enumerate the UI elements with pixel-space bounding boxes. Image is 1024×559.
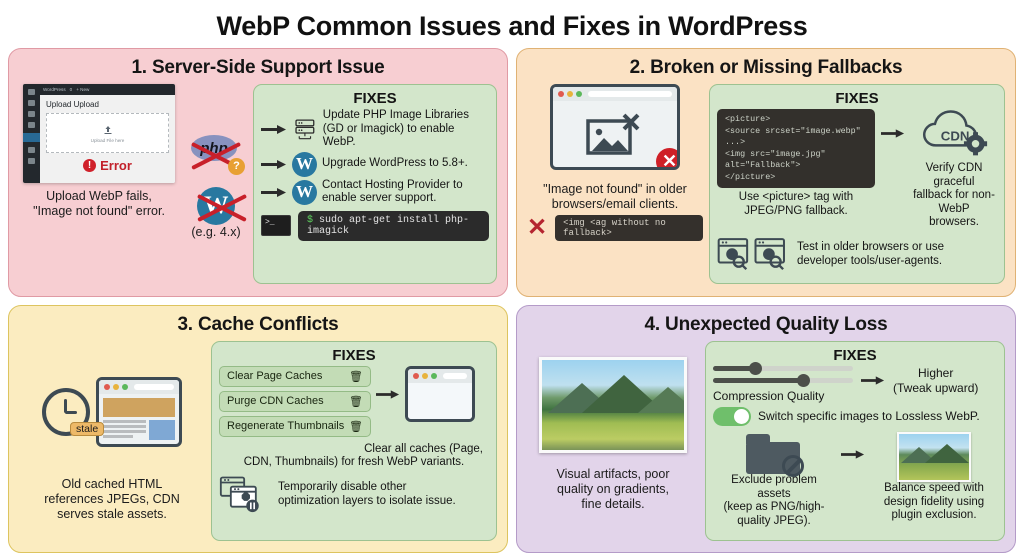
browser-titlebar — [99, 380, 179, 394]
wp-sidebar-icon — [28, 89, 35, 95]
regenerate-thumbnails-button[interactable]: Regenerate Thumbnails 🗑 — [219, 416, 371, 437]
panel-2-title: 2. Broken or Missing Fallbacks — [527, 55, 1005, 81]
panel-cache-conflicts: 3. Cache Conflicts stale — [8, 305, 508, 554]
wp-dropzone-label: Upload File here — [91, 138, 125, 143]
button-label: Clear Page Caches — [227, 370, 322, 382]
red-x-icon: ✕ — [527, 218, 547, 238]
fresh-page-mockup — [405, 366, 475, 422]
caption-line: serves stale assets. — [44, 507, 179, 522]
infographic-page: WebP Common Issues and Fixes in WordPres… — [0, 0, 1024, 559]
panel-broken-fallbacks: 2. Broken or Missing Fallbacks — [516, 48, 1016, 297]
fix-item: Update PHP Image Libraries (GD or Imagic… — [261, 109, 489, 150]
panel-4-problem: Visual artifacts, poor quality on gradie… — [527, 341, 699, 541]
caption-line: fine details. — [556, 497, 669, 512]
url-bar — [134, 384, 174, 390]
panel-3-problem: stale — [19, 341, 205, 541]
landscape-photo — [539, 357, 687, 453]
slider-knob[interactable] — [797, 374, 810, 387]
fix-text: Temporarily disable other optimization l… — [278, 481, 456, 508]
maximize-dot-icon — [431, 373, 437, 379]
browser-inspect-icons — [717, 235, 789, 275]
panel-2-caption: "Image not found" in older browsers/emai… — [543, 182, 687, 212]
minimize-dot-icon — [113, 384, 119, 390]
shell-prompt: $ — [307, 215, 313, 226]
toggle-label: Switch specific images to Lossless WebP. — [758, 410, 980, 424]
version-label: (e.g. 4.x) — [191, 225, 240, 239]
slider-knob[interactable] — [749, 362, 762, 375]
maximize-dot-icon — [576, 91, 582, 97]
fix-text-line: design fidelity using — [871, 496, 997, 510]
error-icon: ! — [83, 159, 96, 172]
caption-line: browsers/email clients. — [543, 197, 687, 212]
fix-text: Higher (Tweak upward) — [893, 366, 978, 396]
fix-text: Exclude problem assets (keep as PNG/high… — [713, 474, 835, 528]
fix-text-line: Higher — [893, 366, 978, 381]
maximize-dot-icon — [122, 384, 128, 390]
wp-brand-label: WordPress — [43, 87, 66, 92]
picture-tag-code-block: <picture> <source srcset="image.webp" ..… — [717, 109, 875, 188]
server-icon — [292, 116, 318, 142]
wp-sidebar-icon — [28, 100, 35, 106]
fix-text-line: Upgrade WordPress to 5.8+. — [322, 157, 468, 171]
panel-1-problem: WordPress 0 + New Upload Upload — [19, 84, 179, 284]
code-line: <img src="image.jpg" alt="Fallback"> — [725, 149, 867, 172]
fix-text-line: Contact Hosting Provider to — [322, 179, 463, 193]
panel-grid: 1. Server-Side Support Issue — [8, 48, 1016, 553]
wp-admin-bar: WordPress 0 + New — [40, 84, 175, 95]
wp-error-label: Error — [100, 158, 132, 173]
browser-titlebar — [553, 87, 677, 101]
button-label: Purge CDN Caches — [227, 395, 324, 407]
fix-text: Balance speed with design fidelity using… — [871, 482, 997, 523]
compression-quality-slider-1[interactable] — [713, 366, 853, 371]
panel-1-crossed-icons: php ? W (e.g. 4.x) — [185, 84, 247, 284]
fix-text-line: plugin exclusion. — [871, 509, 997, 523]
page-title: WebP Common Issues and Fixes in WordPres… — [8, 6, 1016, 48]
question-badge-icon: ? — [228, 158, 245, 175]
fix-text: Clear all caches (Page, CDN, Thumbnails)… — [219, 443, 489, 470]
panel-1-caption: Upload WebP fails, "Image not found" err… — [33, 189, 165, 219]
panel-2-problem: ✕ "Image not found" in older browsers/em… — [527, 84, 703, 284]
fixes-heading: FIXES — [219, 346, 489, 366]
fix-text-line: JPEG/PNG fallback. — [717, 205, 875, 219]
img-tag-row: ✕ <img <ag without no fallback> — [527, 215, 703, 241]
terminal-icon: >_ — [261, 215, 291, 236]
caption-line: references JPEGs, CDN — [44, 492, 179, 507]
fix-text: Upgrade WordPress to 5.8+. — [322, 157, 468, 171]
panel-3-caption: Old cached HTML references JPEGs, CDN se… — [44, 477, 179, 522]
fix-text-line: enable server support. — [322, 192, 463, 206]
fix-text-line: Test in older browsers or use — [797, 241, 944, 255]
stale-badge: stale — [70, 422, 104, 436]
fix-text: Test in older browsers or use developer … — [797, 241, 944, 268]
fix-text: Use <picture> tag with JPEG/PNG fallback… — [717, 191, 875, 218]
panel-1-title: 1. Server-Side Support Issue — [19, 55, 497, 81]
close-dot-icon — [413, 373, 419, 379]
panel-2-fixes: FIXES <picture> <source srcset="image.we… — [709, 84, 1005, 284]
fix-text-line: browsers. — [911, 216, 997, 230]
terminal-command[interactable]: $ sudo apt-get install php-imagick — [298, 211, 489, 241]
wp-new-label: + New — [76, 87, 89, 92]
wp-sidebar-icon-selected — [23, 133, 40, 142]
fix-text-line: optimization layers to isolate issue. — [278, 495, 456, 509]
fix-text-line: (GD or Imagick) to enable WebP. — [323, 123, 489, 150]
close-dot-icon — [558, 91, 564, 97]
upload-icon — [102, 124, 114, 136]
panel-4-caption: Visual artifacts, poor quality on gradie… — [556, 467, 669, 512]
panel-1-fixes: FIXES Update PHP Im — [253, 84, 497, 284]
slider-label: Compression Quality — [713, 390, 853, 404]
fix-text-line: developer tools/user-agents. — [797, 255, 944, 269]
clear-page-caches-button[interactable]: Clear Page Caches 🗑 — [219, 366, 371, 387]
caption-line: Old cached HTML — [44, 477, 179, 492]
trash-icon[interactable]: 🗑 — [349, 370, 363, 383]
photo-thumbnail — [897, 432, 971, 482]
caption-line: Upload WebP fails, — [33, 189, 165, 204]
wordpress-old-version-icon: W — [197, 187, 235, 225]
panel-4-title: 4. Unexpected Quality Loss — [527, 312, 1005, 338]
panel-3-fixes: FIXES Clear Page Caches 🗑 Purge CDN Cach… — [211, 341, 497, 541]
terminal-row: >_ $ sudo apt-get install php-imagick — [261, 211, 489, 241]
fix-text-line: CDN, Thumbnails) for fresh WebP variants… — [219, 456, 489, 470]
wordpress-icon: W — [292, 152, 317, 177]
fix-item: W Contact Hosting Provider to enable ser… — [261, 179, 489, 206]
url-bar — [443, 373, 467, 379]
wp-sidebar-icon — [28, 111, 35, 117]
wp-sidebar-icon — [28, 122, 35, 128]
arrow-right-icon — [881, 127, 905, 140]
arrow-right-icon — [261, 186, 287, 199]
broken-image-icon — [586, 111, 644, 159]
wp-sidebar-icon — [28, 147, 35, 153]
browser-titlebar — [408, 369, 472, 383]
wordpress-icon: W — [292, 180, 317, 205]
wp-sidebar-icon — [28, 158, 35, 164]
panel-quality-loss: 4. Unexpected Quality Loss Visual artifa… — [516, 305, 1016, 554]
wp-comment-count: 0 — [70, 87, 73, 92]
code-line: <source srcset="image.webp" ...> — [725, 126, 867, 149]
arrow-right-icon — [376, 388, 400, 401]
fix-text-line: Clear all caches (Page, — [219, 443, 489, 457]
minimize-dot-icon — [422, 373, 428, 379]
wp-upload-heading: Upload Upload — [46, 100, 169, 109]
caption-line: "Image not found" error. — [33, 204, 165, 219]
cdn-gear-icon: CDN — [919, 109, 989, 157]
img-tag-pill: <img <ag without no fallback> — [555, 215, 703, 241]
trash-icon[interactable]: 🗑 — [349, 420, 363, 433]
broken-image-browser-mockup: ✕ — [550, 84, 680, 170]
minimize-dot-icon — [567, 91, 573, 97]
fix-text: Contact Hosting Provider to enable serve… — [322, 179, 463, 206]
page-content-preview — [99, 394, 179, 444]
fix-item: W Upgrade WordPress to 5.8+. — [261, 152, 489, 177]
url-bar — [588, 91, 672, 97]
wp-error-row: ! Error — [46, 158, 169, 173]
fix-text: Update PHP Image Libraries (GD or Imagic… — [323, 109, 489, 150]
button-label: Regenerate Thumbnails — [227, 420, 344, 432]
error-x-icon: ✕ — [656, 148, 680, 170]
panel-server-side-support: 1. Server-Side Support Issue — [8, 48, 508, 297]
fix-text-line: Verify CDN graceful — [911, 162, 997, 189]
fix-text-line: Temporarily disable other — [278, 481, 456, 495]
arrow-right-icon — [861, 374, 885, 387]
wordpress-admin-mockup: WordPress 0 + New Upload Upload — [23, 84, 175, 183]
folder-exclude-icon — [746, 432, 802, 474]
fix-text-line: Balance speed with — [871, 482, 997, 496]
purge-cdn-caches-button[interactable]: Purge CDN Caches 🗑 — [219, 391, 371, 412]
fix-text-line: (keep as PNG/high- — [713, 501, 835, 515]
cached-page-mockup — [96, 377, 182, 447]
arrow-right-icon — [841, 448, 865, 461]
shell-command-text: sudo apt-get install php-imagick — [307, 215, 469, 237]
cdn-label: CDN — [941, 128, 970, 143]
caption-line: "Image not found" in older — [543, 182, 687, 197]
caption-line: quality on gradients, — [556, 482, 669, 497]
windows-pause-icon — [219, 475, 271, 515]
panel-4-fixes: FIXES Compression Quality — [705, 341, 1005, 541]
close-dot-icon — [104, 384, 110, 390]
fix-text-line: Exclude problem assets — [713, 474, 835, 501]
fixes-heading: FIXES — [717, 89, 997, 109]
arrow-right-icon — [261, 123, 287, 136]
fixes-heading: FIXES — [261, 89, 489, 109]
fix-text-line: Update PHP Image Libraries — [323, 109, 489, 123]
fix-text-line: Use <picture> tag with — [717, 191, 875, 205]
wp-dropzone: Upload File here — [46, 113, 169, 153]
panel-3-title: 3. Cache Conflicts — [19, 312, 497, 338]
fix-text: Verify CDN graceful fallback for non-Web… — [911, 162, 997, 230]
arrow-right-icon — [261, 158, 287, 171]
compression-quality-slider-2[interactable] — [713, 378, 853, 383]
empty-page-body — [408, 383, 472, 422]
code-line: <picture> — [725, 114, 867, 126]
fix-text-line: quality JPEG). — [713, 515, 835, 529]
fix-text-line: (Tweak upward) — [893, 381, 978, 396]
code-line: </picture> — [725, 172, 867, 184]
caption-line: Visual artifacts, poor — [556, 467, 669, 482]
lossless-webp-toggle[interactable] — [713, 407, 751, 426]
wp-sidebar — [23, 84, 40, 183]
fix-text-line: fallback for non-WebP — [911, 189, 997, 216]
trash-icon[interactable]: 🗑 — [349, 395, 363, 408]
